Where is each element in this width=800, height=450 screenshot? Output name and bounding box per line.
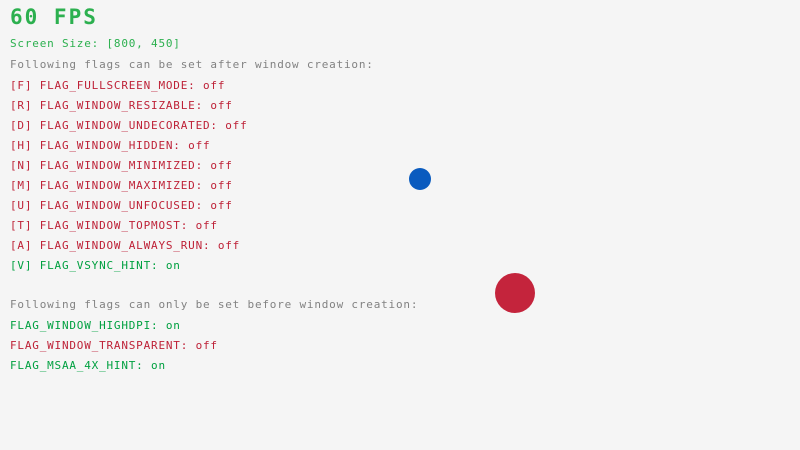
fps-counter: 60 FPS bbox=[10, 7, 98, 28]
section-header-after-creation: Following flags can be set after window … bbox=[10, 59, 374, 70]
flag-line-flag-msaa-4x-hint: FLAG_MSAA_4X_HINT: on bbox=[10, 360, 166, 371]
screen-size-label: Screen Size: [800, 450] bbox=[10, 38, 181, 49]
flag-line-flag-window-transparent: FLAG_WINDOW_TRANSPARENT: off bbox=[10, 340, 218, 351]
flag-line-flag-window-resizable[interactable]: [R] FLAG_WINDOW_RESIZABLE: off bbox=[10, 100, 233, 111]
flag-line-flag-window-unfocused[interactable]: [U] FLAG_WINDOW_UNFOCUSED: off bbox=[10, 200, 233, 211]
red-circle bbox=[495, 273, 535, 313]
app-canvas: 60 FPS Screen Size: [800, 450] Following… bbox=[0, 0, 800, 450]
flag-line-flag-window-undecorated[interactable]: [D] FLAG_WINDOW_UNDECORATED: off bbox=[10, 120, 248, 131]
flag-line-flag-window-topmost[interactable]: [T] FLAG_WINDOW_TOPMOST: off bbox=[10, 220, 218, 231]
flag-line-flag-window-always-run[interactable]: [A] FLAG_WINDOW_ALWAYS_RUN: off bbox=[10, 240, 240, 251]
flag-line-flag-window-minimized[interactable]: [N] FLAG_WINDOW_MINIMIZED: off bbox=[10, 160, 233, 171]
flag-line-flag-fullscreen-mode[interactable]: [F] FLAG_FULLSCREEN_MODE: off bbox=[10, 80, 225, 91]
section-header-before-creation: Following flags can only be set before w… bbox=[10, 299, 418, 310]
flag-line-flag-vsync-hint[interactable]: [V] FLAG_VSYNC_HINT: on bbox=[10, 260, 181, 271]
flag-line-flag-window-hidden[interactable]: [H] FLAG_WINDOW_HIDDEN: off bbox=[10, 140, 210, 151]
blue-circle bbox=[409, 168, 431, 190]
flag-line-flag-window-highdpi: FLAG_WINDOW_HIGHDPI: on bbox=[10, 320, 181, 331]
flag-line-flag-window-maximized[interactable]: [M] FLAG_WINDOW_MAXIMIZED: off bbox=[10, 180, 233, 191]
